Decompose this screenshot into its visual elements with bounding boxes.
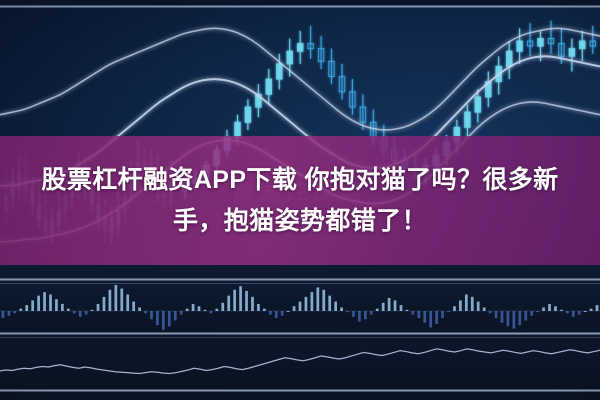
histogram-panel-top-rule-thin <box>0 283 600 284</box>
line-panel-top-rule <box>0 332 600 335</box>
macd-histogram-svg <box>0 281 600 333</box>
line-panel-top-rule-thin <box>0 337 600 338</box>
histogram-panel-top-rule <box>0 278 600 281</box>
top-divider-rule <box>0 5 600 8</box>
bottom-edge-bar <box>0 392 600 400</box>
macd-histogram-panel <box>0 281 600 333</box>
trend-line-panel <box>0 335 600 390</box>
headline-banner-band: 股票杠杆融资APP下载 你抱对猫了吗？很多新手，抱猫姿势都错了！ <box>0 136 600 265</box>
trend-line-svg <box>0 335 600 390</box>
stock-finance-banner: 富国控股网 股票杠杆融资APP下载 你抱对猫了吗？很多新手，抱猫姿势都错了！ <box>0 0 600 400</box>
headline-title: 股票杠杆融资APP下载 你抱对猫了吗？很多新手，抱猫姿势都错了！ <box>20 160 580 242</box>
bottom-rule <box>0 389 600 392</box>
